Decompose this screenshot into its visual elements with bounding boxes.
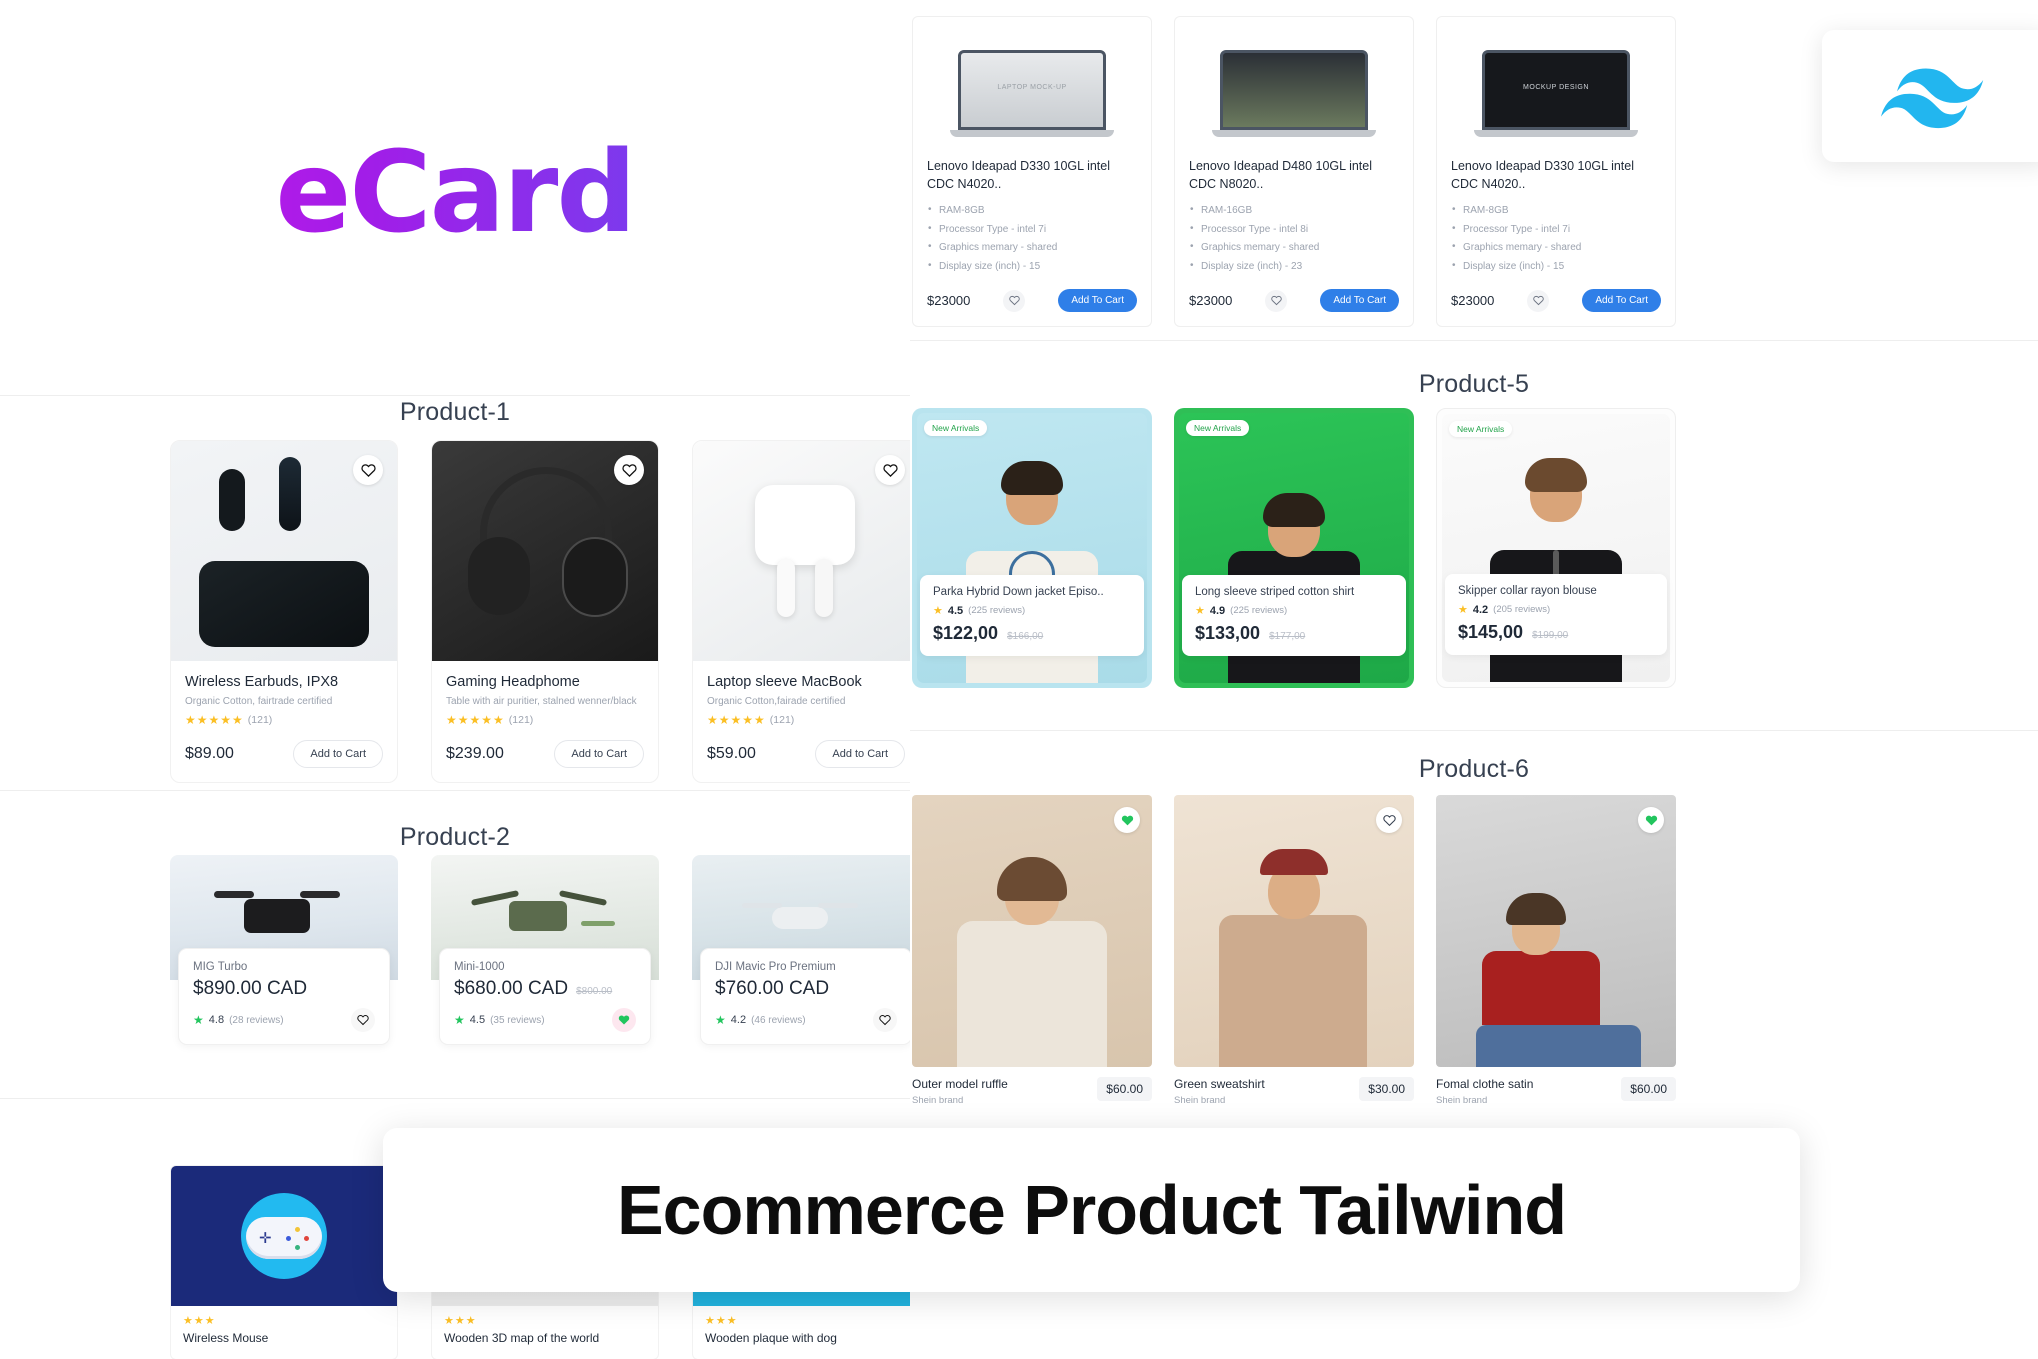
- star-icon: ★: [1458, 603, 1468, 616]
- product-card[interactable]: Laptop sleeve MacBook Organic Cotton,fai…: [692, 440, 920, 783]
- product-name: Parka Hybrid Down jacket Episo..: [933, 586, 1131, 598]
- spec-item: Graphics memary - shared: [1189, 239, 1399, 258]
- product-price: $23000: [1189, 293, 1232, 308]
- product-card[interactable]: MOCKUP DESIGN Lenovo Ideapad D330 10GL i…: [1436, 16, 1676, 327]
- new-arrivals-badge: New Arrivals: [1449, 421, 1512, 437]
- product-card-footer: $23000 Add To Cart: [927, 289, 1137, 312]
- product-info: Fomal clothe satin Shein brand: [1436, 1077, 1533, 1106]
- review-count: (225 reviews): [968, 605, 1025, 616]
- star-rating-icon: ★★★: [444, 1314, 646, 1327]
- review-count: (225 reviews): [1230, 605, 1287, 616]
- favorite-heart-icon[interactable]: [353, 455, 383, 485]
- divider: [910, 730, 2038, 731]
- product-card-body: Mini-1000 $680.00 CAD $800.00 ★ 4.5 (35 …: [439, 948, 651, 1045]
- price-row: $122,00 $166,00: [933, 623, 1131, 644]
- product-rating: ★ 4.2 (46 reviews): [715, 1013, 806, 1027]
- spec-list: RAM-16GB Processor Type - intel 8i Graph…: [1189, 202, 1399, 276]
- add-to-cart-button[interactable]: Add To Cart: [1320, 289, 1399, 312]
- product-card[interactable]: ✛ ★★★ Wireless Mouse: [170, 1165, 398, 1359]
- product-card-footer: $23000 Add To Cart: [1189, 289, 1399, 312]
- screen-label: LAPTOP MOCK-UP: [961, 84, 1103, 91]
- rating-value: 4.2: [731, 1014, 746, 1026]
- spec-item: Display size (inch) - 15: [1451, 258, 1661, 277]
- favorite-heart-icon[interactable]: [1527, 290, 1549, 312]
- product-5-card-row: New Arrivals Parka Hybrid Down jacket Ep…: [912, 408, 1676, 688]
- product-card-body: Laptop sleeve MacBook Organic Cotton,fai…: [693, 661, 919, 782]
- spec-item: Processor Type - intel 7i: [1451, 221, 1661, 240]
- star-icon: ★: [715, 1013, 726, 1027]
- star-icon: ★: [1195, 604, 1205, 617]
- product-price: $60.00: [1621, 1077, 1676, 1101]
- product-brand: Shein brand: [912, 1095, 1008, 1106]
- product-card-body: Skipper collar rayon blouse ★ 4.2 (205 r…: [1445, 574, 1667, 655]
- product-card-body: Wireless Earbuds, IPX8 Organic Cotton, f…: [171, 661, 397, 782]
- review-count: (28 reviews): [229, 1015, 283, 1026]
- add-to-cart-button[interactable]: Add to Cart: [815, 740, 905, 768]
- product-card[interactable]: MOON New Arrivals Long sleeve striped co…: [1174, 408, 1414, 688]
- spec-list: RAM-8GB Processor Type - intel 7i Graphi…: [1451, 202, 1661, 276]
- product-card-body: DJI Mavic Pro Premium $760.00 CAD ★ 4.2 …: [700, 948, 912, 1045]
- product-price: $23000: [927, 293, 970, 308]
- favorite-heart-icon-active[interactable]: [1114, 807, 1140, 833]
- product-card[interactable]: Green sweatshirt Shein brand $30.00: [1174, 795, 1414, 1106]
- product-card-footer: ★ 4.8 (28 reviews): [193, 1008, 375, 1032]
- model-head: [1006, 469, 1058, 525]
- new-arrivals-badge: New Arrivals: [924, 420, 987, 436]
- laptop-card-row: LAPTOP MOCK-UP Lenovo Ideapad D330 10GL …: [912, 16, 1676, 327]
- add-to-cart-button[interactable]: Add to Cart: [554, 740, 644, 768]
- product-rating: ★★★★★ (121): [185, 713, 383, 727]
- gamepad-icon: ✛: [241, 1193, 327, 1279]
- product-card[interactable]: New Arrivals Parka Hybrid Down jacket Ep…: [912, 408, 1152, 688]
- favorite-heart-icon[interactable]: [1265, 290, 1287, 312]
- product-rating: ★★★★★ (121): [707, 713, 905, 727]
- star-rating-icon: ★★★★★: [707, 713, 766, 727]
- product-name: Wireless Mouse: [183, 1331, 385, 1345]
- product-image-laptop: LAPTOP MOCK-UP: [927, 29, 1137, 157]
- favorite-heart-icon-active[interactable]: [612, 1008, 636, 1032]
- product-name: Green sweatshirt: [1174, 1077, 1265, 1091]
- laptop-screen: MOCKUP DESIGN: [1482, 50, 1630, 130]
- product-card-footer: Fomal clothe satin Shein brand $60.00: [1436, 1067, 1676, 1106]
- product-card-body: MIG Turbo $890.00 CAD ★ 4.8 (28 reviews): [178, 948, 390, 1045]
- product-rating: ★ 4.2 (205 reviews): [1458, 603, 1654, 616]
- star-rating-icon: ★★★★★: [185, 713, 244, 727]
- laptop-base: [950, 130, 1114, 137]
- screen-label: MOCKUP DESIGN: [1485, 84, 1627, 91]
- spec-item: RAM-8GB: [1451, 202, 1661, 221]
- laptop-screen: [1220, 50, 1368, 130]
- star-rating-icon: ★★★: [705, 1314, 907, 1327]
- price-row: $145,00 $199,00: [1458, 622, 1654, 643]
- favorite-heart-icon[interactable]: [351, 1008, 375, 1032]
- app-root: eCard Product-1 Wireless Earbuds, IPX8 O…: [0, 0, 2038, 1359]
- price-row: $680.00 CAD $800.00: [454, 978, 636, 1000]
- product-card[interactable]: DJI Mavic Pro Premium $760.00 CAD ★ 4.2 …: [692, 855, 920, 1045]
- rating-value: 4.5: [948, 605, 963, 617]
- product-brand: Shein brand: [1174, 1095, 1265, 1106]
- favorite-heart-icon[interactable]: [873, 1008, 897, 1032]
- product-image-model: [912, 795, 1152, 1067]
- product-image-earbuds: [171, 441, 397, 661]
- product-image-headphone: [432, 441, 658, 661]
- product-card[interactable]: Wireless Earbuds, IPX8 Organic Cotton, f…: [170, 440, 398, 783]
- product-card-footer: Green sweatshirt Shein brand $30.00: [1174, 1067, 1414, 1106]
- spec-item: Display size (inch) - 15: [927, 258, 1137, 277]
- product-rating: ★ 4.5 (35 reviews): [454, 1013, 545, 1027]
- product-card-body: ★★★ Wireless Mouse: [171, 1306, 397, 1359]
- star-rating-icon: ★★★: [183, 1314, 385, 1327]
- spec-item: Graphics memary - shared: [927, 239, 1137, 258]
- product-info: Outer model ruffle Shein brand: [912, 1077, 1008, 1106]
- product-card[interactable]: New Arrivals Skipper collar rayon blouse…: [1436, 408, 1676, 688]
- product-image-laptop: [1189, 29, 1399, 157]
- product-card[interactable]: MIG Turbo $890.00 CAD ★ 4.8 (28 reviews): [170, 855, 398, 1045]
- product-info: Green sweatshirt Shein brand: [1174, 1077, 1265, 1106]
- favorite-heart-icon[interactable]: [1376, 807, 1402, 833]
- product-name: Mini-1000: [454, 961, 636, 973]
- favorite-heart-icon[interactable]: [614, 455, 644, 485]
- product-card[interactable]: LAPTOP MOCK-UP Lenovo Ideapad D330 10GL …: [912, 16, 1152, 327]
- star-rating-icon: ★★★★★: [446, 713, 505, 727]
- product-image-model: [1174, 795, 1414, 1067]
- laptop-base: [1474, 130, 1638, 137]
- product-2-card-row: MIG Turbo $890.00 CAD ★ 4.8 (28 reviews): [170, 855, 920, 1045]
- product-name: Gaming Headphome: [446, 674, 644, 690]
- product-card-footer: $239.00 Add to Cart: [446, 740, 644, 768]
- product-price: $89.00: [185, 745, 234, 763]
- product-name: Wireless Earbuds, IPX8: [185, 674, 383, 690]
- product-card[interactable]: Mini-1000 $680.00 CAD $800.00 ★ 4.5 (35 …: [431, 855, 659, 1045]
- add-to-cart-button[interactable]: Add To Cart: [1058, 289, 1137, 312]
- product-card-body: ★★★ Wooden plaque with dog: [693, 1306, 919, 1359]
- spec-item: Display size (inch) - 23: [1189, 258, 1399, 277]
- tailwind-logo-icon: [1881, 63, 1991, 129]
- review-count: (46 reviews): [751, 1015, 805, 1026]
- star-icon: ★: [193, 1013, 204, 1027]
- laptop-base: [1212, 130, 1376, 137]
- tailwind-logo-card: [1822, 30, 2038, 162]
- product-card-footer: Outer model ruffle Shein brand $60.00: [912, 1067, 1152, 1106]
- rating-value: 4.9: [1210, 605, 1225, 617]
- product-card-body: Parka Hybrid Down jacket Episo.. ★ 4.5 (…: [920, 575, 1144, 656]
- dpad-icon: ✛: [259, 1231, 274, 1246]
- product-name: Long sleeve striped cotton shirt: [1195, 586, 1393, 598]
- product-price: $239.00: [446, 745, 504, 763]
- product-card[interactable]: Lenovo Ideapad D480 10GL intel CDC N8020…: [1174, 16, 1414, 327]
- product-description: Organic Cotton, fairtrade certified: [185, 696, 383, 707]
- product-card-body: ★★★ Wooden 3D map of the world: [432, 1306, 658, 1359]
- product-card[interactable]: Outer model ruffle Shein brand $60.00: [912, 795, 1152, 1106]
- product-name: Laptop sleeve MacBook: [707, 674, 905, 690]
- product-price: $60.00: [1097, 1077, 1152, 1101]
- product-rating: ★ 4.5 (225 reviews): [933, 604, 1131, 617]
- product-name: Wooden 3D map of the world: [444, 1331, 646, 1345]
- product-6-card-row: Outer model ruffle Shein brand $60.00: [912, 795, 1676, 1106]
- spec-item: Graphics memary - shared: [1451, 239, 1661, 258]
- rating-value: 4.8: [209, 1014, 224, 1026]
- price-row: $890.00 CAD: [193, 978, 375, 1000]
- product-name: DJI Mavic Pro Premium: [715, 961, 897, 973]
- spec-item: Processor Type - intel 7i: [927, 221, 1137, 240]
- product-card[interactable]: Gaming Headphome Table with air puritier…: [431, 440, 659, 783]
- product-image-airpods: [693, 441, 919, 661]
- product-rating: ★★★★★ (121): [446, 713, 644, 727]
- product-price: $23000: [1451, 293, 1494, 308]
- spec-item: RAM-16GB: [1189, 202, 1399, 221]
- price-row: $760.00 CAD: [715, 978, 897, 1000]
- review-count: (121): [248, 714, 273, 726]
- page-title-banner: Ecommerce Product Tailwind: [383, 1128, 1800, 1292]
- product-price: $59.00: [707, 745, 756, 763]
- product-name: Lenovo Ideapad D330 10GL intel CDC N4020…: [927, 157, 1137, 193]
- product-image-gamepad: ✛: [171, 1166, 397, 1306]
- product-card-footer: ★ 4.5 (35 reviews): [454, 1008, 636, 1032]
- product-price: $122,00: [933, 623, 998, 644]
- brand-logo: eCard: [0, 135, 910, 253]
- divider: [0, 790, 910, 791]
- model-head: [1530, 466, 1582, 522]
- favorite-heart-icon[interactable]: [1003, 290, 1025, 312]
- review-count: (35 reviews): [490, 1015, 544, 1026]
- product-card-footer: $59.00 Add to Cart: [707, 740, 905, 768]
- product-old-price: $177,00: [1269, 631, 1305, 642]
- new-arrivals-badge: New Arrivals: [1186, 420, 1249, 436]
- product-description: Table with air puritier, stalned wenner/…: [446, 696, 644, 707]
- review-count: (121): [770, 714, 795, 726]
- price-row: $133,00 $177,00: [1195, 623, 1393, 644]
- product-rating: ★ 4.9 (225 reviews): [1195, 604, 1393, 617]
- product-name: MIG Turbo: [193, 961, 375, 973]
- brand-header: eCard: [0, 135, 910, 253]
- product-card-footer: $89.00 Add to Cart: [185, 740, 383, 768]
- product-name: Fomal clothe satin: [1436, 1077, 1533, 1091]
- product-price: $760.00 CAD: [715, 978, 829, 1000]
- product-1-card-row: Wireless Earbuds, IPX8 Organic Cotton, f…: [170, 440, 920, 783]
- review-count: (121): [509, 714, 534, 726]
- product-card[interactable]: Fomal clothe satin Shein brand $60.00: [1436, 795, 1676, 1106]
- product-description: Organic Cotton,fairade certified: [707, 696, 905, 707]
- laptop-screen: LAPTOP MOCK-UP: [958, 50, 1106, 130]
- spec-item: Processor Type - intel 8i: [1189, 221, 1399, 240]
- add-to-cart-button[interactable]: Add To Cart: [1582, 289, 1661, 312]
- product-name: Outer model ruffle: [912, 1077, 1008, 1091]
- product-card-footer: $23000 Add To Cart: [1451, 289, 1661, 312]
- product-price: $890.00 CAD: [193, 978, 307, 1000]
- product-old-price: $800.00: [576, 986, 612, 997]
- spec-list: RAM-8GB Processor Type - intel 7i Graphi…: [927, 202, 1137, 276]
- review-count: (205 reviews): [1493, 604, 1550, 615]
- product-card-footer: ★ 4.2 (46 reviews): [715, 1008, 897, 1032]
- page-title: Ecommerce Product Tailwind: [617, 1170, 1566, 1250]
- product-6-section-title: Product-6: [910, 755, 2038, 784]
- product-price: $680.00 CAD: [454, 978, 568, 1000]
- product-name: Lenovo Ideapad D330 10GL intel CDC N4020…: [1451, 157, 1661, 193]
- product-name: Skipper collar rayon blouse: [1458, 585, 1654, 597]
- divider: [910, 340, 2038, 341]
- product-brand: Shein brand: [1436, 1095, 1533, 1106]
- product-1-section-title: Product-1: [0, 398, 910, 427]
- product-name: Lenovo Ideapad D480 10GL intel CDC N8020…: [1189, 157, 1399, 193]
- rating-value: 4.5: [470, 1014, 485, 1026]
- rating-value: 4.2: [1473, 604, 1488, 616]
- divider: [0, 395, 910, 396]
- favorite-heart-icon-active[interactable]: [1638, 807, 1664, 833]
- product-card-body: Long sleeve striped cotton shirt ★ 4.9 (…: [1182, 575, 1406, 656]
- favorite-heart-icon[interactable]: [875, 455, 905, 485]
- product-2-section-title: Product-2: [0, 823, 910, 852]
- product-card-body: Gaming Headphome Table with air puritier…: [432, 661, 658, 782]
- product-image-laptop: MOCKUP DESIGN: [1451, 29, 1661, 157]
- add-to-cart-button[interactable]: Add to Cart: [293, 740, 383, 768]
- product-price: $145,00: [1458, 622, 1523, 643]
- star-icon: ★: [454, 1013, 465, 1027]
- model-head: [1268, 501, 1320, 557]
- product-5-section-title: Product-5: [910, 370, 2038, 399]
- product-image-model: [1436, 795, 1676, 1067]
- product-old-price: $166,00: [1007, 631, 1043, 642]
- product-name: Wooden plaque with dog: [705, 1331, 907, 1345]
- product-price: $133,00: [1195, 623, 1260, 644]
- product-old-price: $199,00: [1532, 630, 1568, 641]
- product-rating: ★ 4.8 (28 reviews): [193, 1013, 284, 1027]
- divider: [0, 1098, 910, 1099]
- star-icon: ★: [933, 604, 943, 617]
- product-price: $30.00: [1359, 1077, 1414, 1101]
- spec-item: RAM-8GB: [927, 202, 1137, 221]
